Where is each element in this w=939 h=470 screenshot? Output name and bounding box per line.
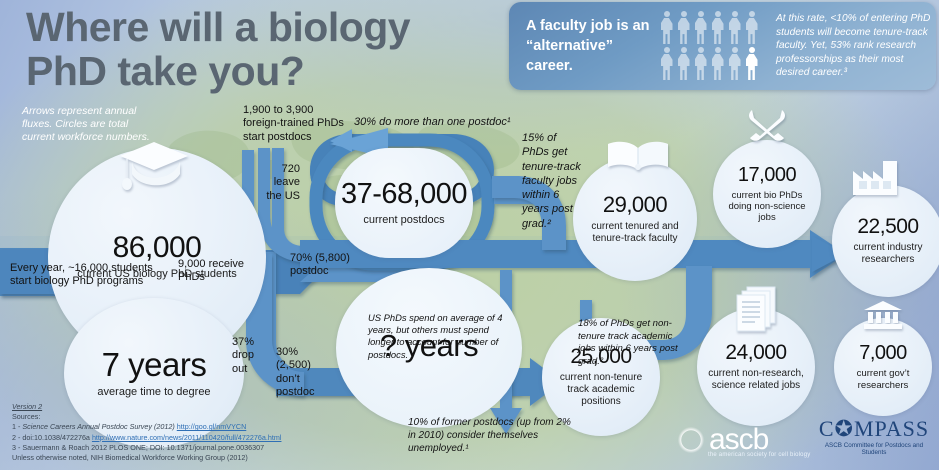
label-tenure-track-15: 15% of PhDs get tenure-track faculty job…: [522, 131, 582, 231]
footer-source-1-text: Science Careers Annual Postdoc Survey (2…: [22, 422, 176, 431]
person-icon-highlighted: [745, 47, 759, 81]
label-receive-phds: 9,000 receive PhDs: [178, 258, 260, 285]
circle-postdocs: 37-68,000 current postdocs: [335, 148, 473, 258]
page-title: Where will a biology PhD take you?: [26, 6, 496, 94]
compass-logo: C✪MPASS ASCB Committee for Postdocs and …: [812, 418, 936, 464]
person-icon: [711, 47, 725, 81]
label-foreign-trained: 1,900 to 3,900 foreign-trained PhDs star…: [243, 104, 349, 144]
person-icon: [660, 47, 674, 81]
years-note: US PhDs spend on average of 4 years, but…: [368, 312, 508, 361]
ascb-wordmark: ascb: [709, 425, 768, 455]
circle-value: 29,000: [603, 194, 667, 216]
footer-source-1-link[interactable]: http://goo.gl/nmVYCN: [177, 422, 247, 431]
person-icon: [711, 11, 725, 45]
label-dont-postdoc: 30% (2,500) don’t postdoc: [276, 346, 326, 400]
circle-caption: average time to degree: [89, 386, 218, 399]
footer-source-2: 2 - doi:10.1038/472276a http://www.natur…: [12, 433, 281, 443]
faculty-note: At this rate, <10% of entering PhD stude…: [776, 12, 934, 80]
graduation-cap-icon: [114, 140, 194, 196]
person-icon: [694, 47, 708, 81]
person-icon: [745, 11, 759, 45]
tools-icon: [744, 108, 790, 146]
footer-source-1: 1 - Science Careers Annual Postdoc Surve…: [12, 422, 281, 432]
label-unemployed: 10% of former postdocs (up from 2% in 20…: [408, 416, 578, 455]
bank-icon: [862, 300, 904, 330]
factory-icon: [849, 157, 911, 197]
circle-government: 7,000 current gov’t researchers: [834, 318, 932, 416]
ascb-tagline: the american society for cell biology: [708, 452, 810, 458]
label-leave-us: 720 leave the US: [256, 163, 300, 203]
circle-caption: current gov’t researchers: [834, 368, 932, 391]
person-icon: [728, 47, 742, 81]
circle-value: 37-68,000: [341, 180, 467, 209]
circle-industry: 22,500 current industry researchers: [832, 185, 939, 297]
compass-tagline: ASCB Committee for Postdocs and Students: [812, 442, 936, 456]
footer-source-3: 3 - Sauermann & Roach 2012 PLOS ONE; DOI…: [12, 443, 281, 453]
footer-source-1-prefix: 1 -: [12, 422, 22, 431]
circle-caption: current industry researchers: [832, 242, 939, 266]
legend-note: Arrows represent annual fluxes. Circles …: [22, 105, 157, 143]
footer-version: Version 2: [12, 402, 281, 412]
footer-source-2-link[interactable]: http://www.nature.com/news/2011/110420/f…: [92, 433, 282, 442]
circle-non-science: 17,000 current bio PhDs doing non-scienc…: [713, 140, 821, 248]
ascb-dot-ring-icon: [676, 425, 706, 455]
people-pictogram: [654, 11, 764, 81]
circle-caption: current tenured and tenure-track faculty: [573, 221, 697, 245]
circle-caption: current non-tenure track academic positi…: [542, 372, 660, 407]
circle-caption: current bio PhDs doing non-science jobs: [713, 190, 821, 224]
faculty-job-callout: A faculty job is an “alternative” career…: [509, 2, 936, 90]
label-drop-out: 37% drop out: [232, 336, 264, 376]
documents-icon: [733, 285, 783, 335]
person-icon: [728, 11, 742, 45]
footer-source-2-prefix: 2 - doi:10.1038/472276a: [12, 433, 92, 442]
open-book-icon: [605, 138, 671, 174]
label-start-programs: Every year, ~16,000 students start biolo…: [10, 262, 158, 289]
person-icon: [694, 11, 708, 45]
person-icon: [677, 11, 691, 45]
footer-sources-label: Sources:: [12, 412, 281, 422]
footer-sources: Version 2 Sources: 1 - Science Careers A…: [12, 402, 281, 463]
ascb-logo: ascb the american society for cell biolo…: [676, 416, 812, 464]
circle-value: 7,000: [859, 343, 907, 363]
circle-value: 17,000: [738, 165, 796, 185]
circle-value: 22,500: [857, 216, 918, 237]
circle-value: 24,000: [725, 342, 786, 363]
label-postdoc-70: 70% (5,800) postdoc: [290, 252, 368, 279]
compass-wordmark: C✪MPASS: [812, 418, 936, 440]
circle-value: 7 years: [102, 348, 207, 381]
label-more-than-one-postdoc: 30% do more than one postdoc¹: [354, 116, 539, 129]
circle-caption: current postdocs: [355, 214, 452, 227]
person-icon: [660, 11, 674, 45]
circle-caption: current non-research, science related jo…: [697, 368, 815, 392]
label-non-tenure-18: 18% of PhDs get non-tenure track academi…: [578, 318, 682, 369]
faculty-headline: A faculty job is an “alternative” career…: [526, 16, 654, 76]
infographic-canvas: Where will a biology PhD take you? Arrow…: [0, 0, 939, 470]
circle-tenure-faculty: 29,000 current tenured and tenure-track …: [573, 157, 697, 281]
footer-note: Unless otherwise noted, NIH Biomedical W…: [12, 453, 281, 463]
person-icon: [677, 47, 691, 81]
